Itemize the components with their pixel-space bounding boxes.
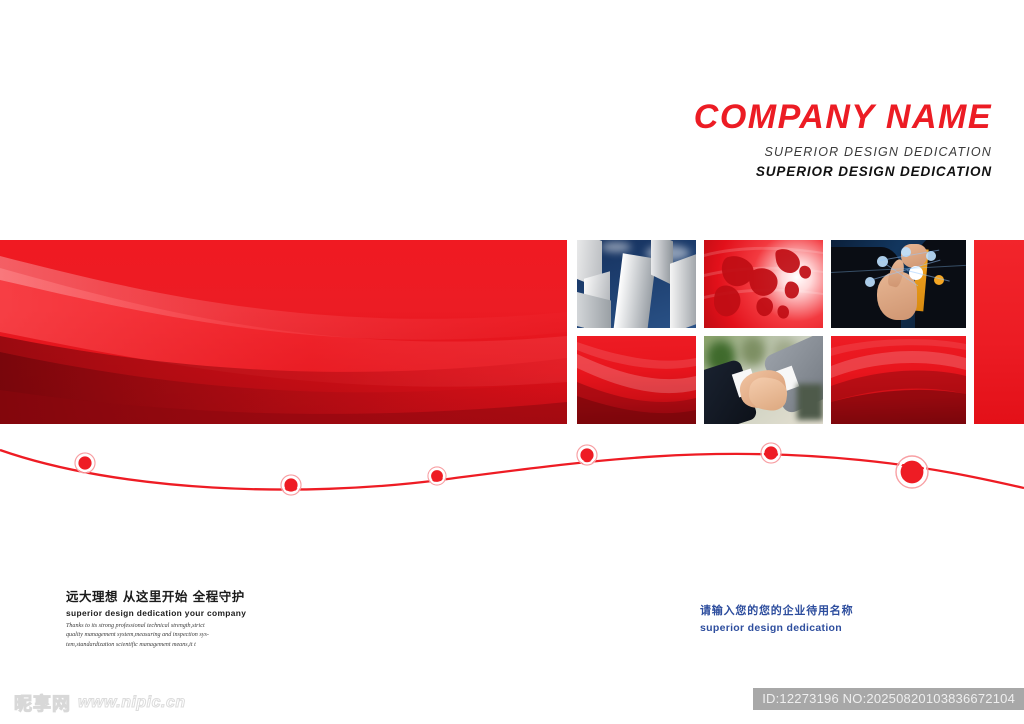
continents-svg [704, 240, 823, 328]
photo-tile-grid [577, 240, 966, 424]
timeline-wave [0, 430, 1024, 510]
title-block: COMPANY NAME SUPERIOR DESIGN DEDICATION … [694, 100, 992, 179]
banner-strip [0, 240, 1024, 424]
red-accent-strip [974, 240, 1024, 424]
right-en-line: superior design dedication [700, 622, 1000, 634]
skyscrapers-art [577, 240, 696, 328]
timeline-node[interactable] [75, 453, 95, 473]
handshake-art [704, 336, 823, 424]
timeline-node[interactable] [428, 467, 446, 485]
silk-art-left [577, 336, 696, 424]
red-silk-graphic-left[interactable] [577, 336, 696, 424]
silk-art-right [831, 336, 966, 424]
timeline-node[interactable] [761, 443, 781, 463]
page-title: COMPANY NAME [694, 100, 992, 136]
ribbon-wave-svg [0, 240, 567, 424]
left-cn-heading: 远大理想 从这里开始 全程守护 [66, 586, 326, 605]
left-text-block: 远大理想 从这里开始 全程守护 superior design dedicati… [66, 586, 326, 650]
timeline-node[interactable] [281, 475, 301, 495]
timeline-node[interactable] [896, 456, 928, 488]
left-en-heading: superior design dedication your company [66, 608, 326, 618]
handshake-photo[interactable] [704, 336, 823, 424]
poster-canvas: COMPANY NAME SUPERIOR DESIGN DEDICATION … [0, 0, 1024, 724]
world-map-art [704, 240, 823, 328]
network-art [831, 240, 966, 328]
right-cn-line: 请输入您的您的企业待用名称 [700, 602, 1000, 618]
footer-watermark-bar: 昵享网 www.nipic.cn ID:12273196 NO:20250820… [0, 680, 1024, 724]
asset-id-badge: ID:12273196 NO:20250820103836672104 [753, 688, 1024, 710]
watermark-url-text: www.nipic.cn [78, 694, 186, 712]
silk-wave-svg [577, 336, 696, 424]
left-paragraph: Thanks to its strong professional techni… [66, 622, 218, 650]
subtitle-secondary: SUPERIOR DESIGN DEDICATION [694, 164, 992, 179]
nipic-watermark-logo: 昵享网 www.nipic.cn [14, 690, 186, 716]
right-text-block: 请输入您的您的企业待用名称 superior design dedication [700, 602, 1000, 634]
world-map-photo[interactable] [704, 240, 823, 328]
skyscrapers-photo[interactable] [577, 240, 696, 328]
subtitle-primary: SUPERIOR DESIGN DEDICATION [694, 145, 992, 159]
watermark-cn-text: 昵享网 [14, 690, 71, 716]
red-ribbon-graphic [0, 240, 567, 424]
timeline-curve [0, 450, 1024, 490]
silk-wave-svg-2 [831, 336, 966, 424]
business-network-photo[interactable] [831, 240, 966, 328]
red-silk-graphic-right[interactable] [831, 336, 966, 424]
